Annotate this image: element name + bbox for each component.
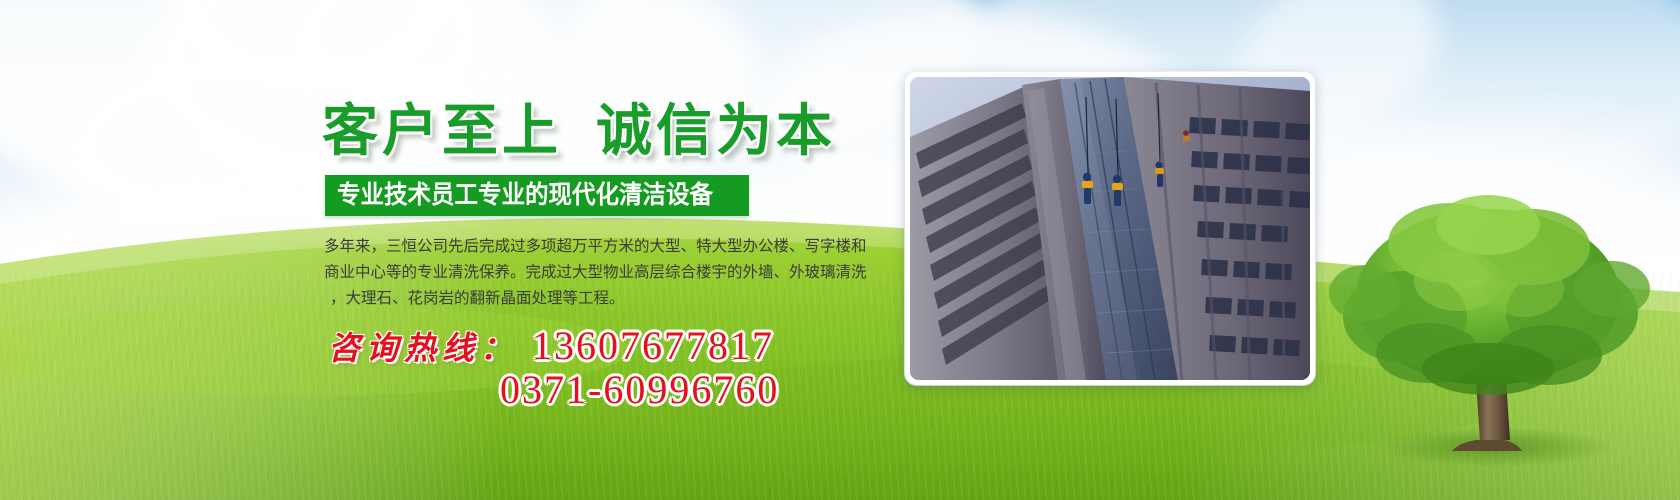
page-title: 客户至上诚信为本 [322,104,836,160]
paragraph-line: 多年来，三恒公司先后完成过多项超万平方米的大型、特大型办公楼、写字楼和 [324,233,884,259]
hotline-label: 咨询热线： [328,330,518,366]
headline-left: 客户至上 [322,101,562,163]
hotline-row-landline: 0371-60996760 [500,366,779,413]
hotline-row-mobile: 咨询热线：13607677817 [328,322,774,369]
tree-illustration [1310,185,1660,470]
hotline-mobile-number[interactable]: 13607677817 [532,323,774,368]
hotline-landline-number[interactable]: 0371-60996760 [500,367,779,412]
building-photo [910,77,1310,380]
subtitle-bar: 专业技术员工专业的现代化清洁设备 [325,175,749,216]
subtitle-bar-label: 专业技术员工专业的现代化清洁设备 [337,182,713,207]
paragraph-line: ，大理石、花岗岩的翻新晶面处理等工程。 [324,285,884,311]
headline-right: 诚信为本 [596,101,836,163]
building-photo-frame[interactable] [905,72,1315,385]
description-paragraph: 多年来，三恒公司先后完成过多项超万平方米的大型、特大型办公楼、写字楼和 商业中心… [324,233,884,311]
paragraph-line: 商业中心等的专业清洗保养。完成过大型物业高层综合楼宇的外墙、外玻璃清洗 [324,259,884,285]
promo-banner: 客户至上诚信为本 专业技术员工专业的现代化清洁设备 多年来，三恒公司先后完成过多… [0,0,1680,500]
